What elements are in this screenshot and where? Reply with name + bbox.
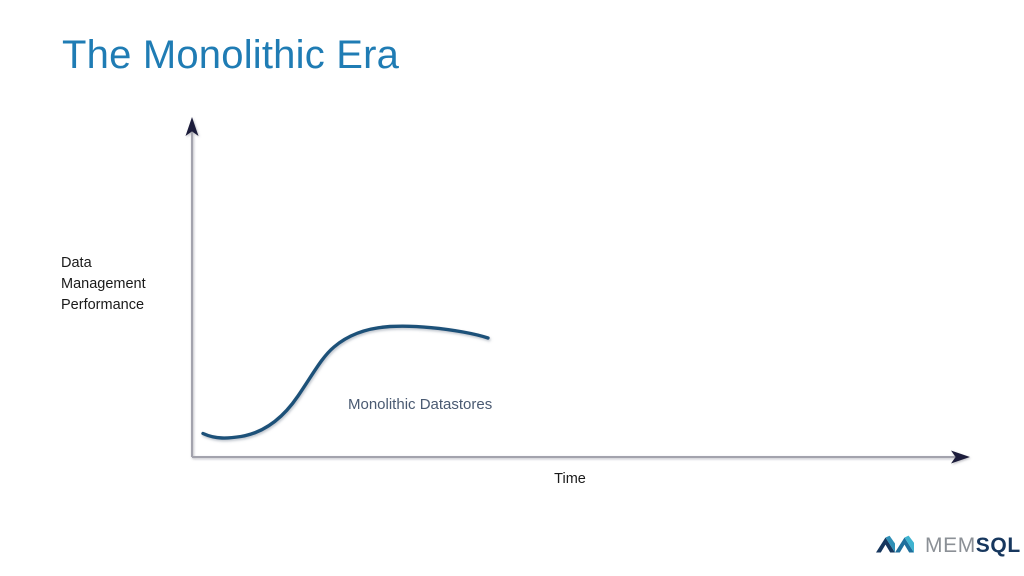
memsql-wordmark-mem: MEM xyxy=(925,534,976,557)
y-axis xyxy=(186,117,199,457)
x-axis xyxy=(192,451,970,464)
y-axis-label: Data Management Performance xyxy=(61,253,179,316)
monolithic-datastores-curve xyxy=(203,326,488,438)
memsql-mark-icon xyxy=(876,533,916,557)
slide-canvas: The Monolithic Era xyxy=(0,0,1024,576)
curve-annotation-label: Monolithic Datastores xyxy=(348,396,492,413)
memsql-wordmark-sql: SQL xyxy=(976,534,1021,557)
memsql-logo: MEMSQL xyxy=(876,530,1021,560)
series-monolithic-datastores xyxy=(203,326,488,438)
memsql-wordmark: MEMSQL xyxy=(925,535,1021,556)
x-axis-label: Time xyxy=(500,471,640,487)
